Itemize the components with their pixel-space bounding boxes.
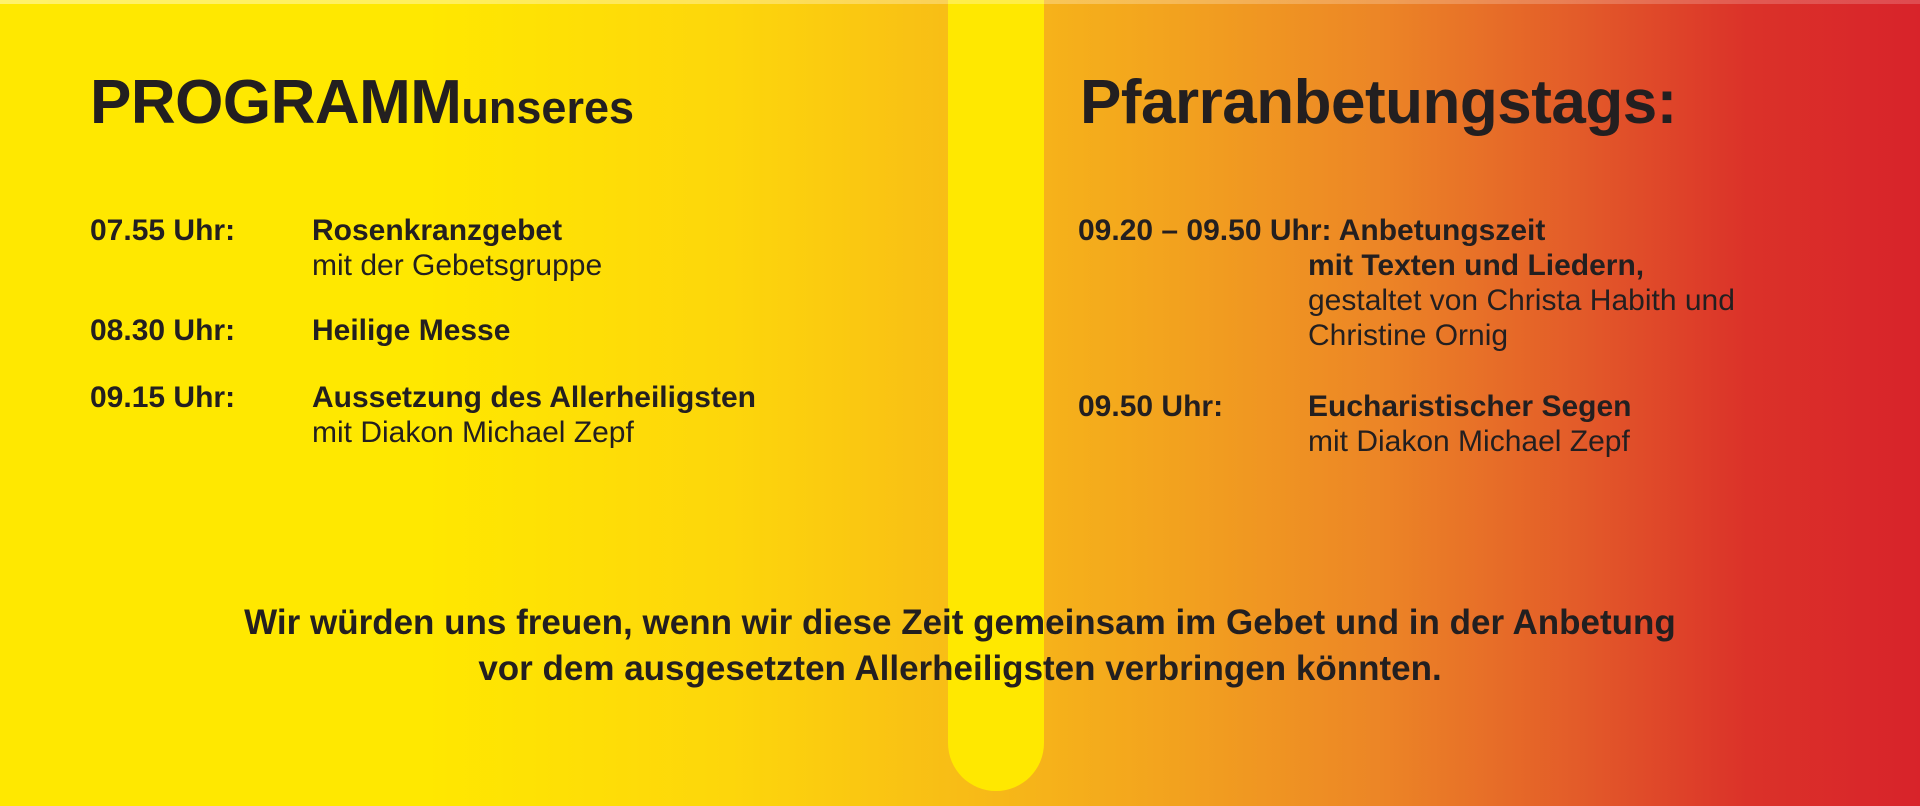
closing-message-line-1: Wir würden uns freuen, wenn wir diese Ze… (80, 600, 1840, 646)
entry-title: Rosenkranzgebet (312, 213, 948, 248)
schedule-entry: 07.55 Uhr: Rosenkranzgebet mit der Gebet… (0, 213, 948, 283)
entry-spacer (0, 348, 948, 380)
poster-canvas: PROGRAMMunseres 07.55 Uhr: Rosenkranzgeb… (0, 0, 1920, 806)
entry-note: mit Diakon Michael Zepf (1308, 424, 1920, 459)
page-title-sub: unseres (461, 82, 634, 133)
entry-note: mit der Gebetsgruppe (312, 248, 948, 283)
entry-spacer (0, 283, 948, 313)
closing-message: Wir würden uns freuen, wenn wir diese Ze… (0, 600, 1920, 691)
schedule-right: 09.20 – 09.50 Uhr: Anbetungszeit mit Tex… (1044, 213, 1920, 460)
schedule-entry: 09.50 Uhr: Eucharistischer Segen mit Dia… (1044, 389, 1920, 459)
entry-spacer (1044, 353, 1920, 389)
entry-title: Eucharistischer Segen (1308, 389, 1920, 424)
page-title-right: Pfarranbetungstags: (1080, 72, 1677, 134)
entry-title: Heilige Messe (312, 313, 948, 348)
schedule-entry: 09.15 Uhr: Aussetzung des Allerheiligste… (0, 380, 948, 450)
schedule-entry-anbetungszeit: 09.20 – 09.50 Uhr: Anbetungszeit mit Tex… (1044, 213, 1920, 353)
entry-subtitle: mit Texten und Liedern, (1308, 248, 1920, 283)
closing-message-line-2: vor dem ausgesetzten Allerheiligsten ver… (80, 646, 1840, 692)
entry-body: Aussetzung des Allerheiligsten mit Diako… (312, 380, 948, 450)
entry-time: 09.15 Uhr: (90, 380, 312, 415)
entry-time: 09.50 Uhr: (1078, 389, 1308, 424)
page-title-main: PROGRAMM (90, 68, 461, 137)
entry-body: Heilige Messe (312, 313, 948, 348)
entry-note-line-1: gestaltet von Christa Habith und (1308, 283, 1920, 318)
entry-note: mit Diakon Michael Zepf (312, 415, 948, 450)
entry-time-and-title: 09.20 – 09.50 Uhr: Anbetungszeit (1078, 213, 1920, 248)
entry-body: Eucharistischer Segen mit Diakon Michael… (1308, 389, 1920, 459)
entry-note-line-2: Christine Ornig (1308, 318, 1920, 353)
entry-body: mit Texten und Liedern, gestaltet von Ch… (1078, 248, 1920, 353)
entry-body: Rosenkranzgebet mit der Gebetsgruppe (312, 213, 948, 283)
entry-time: 08.30 Uhr: (90, 313, 312, 348)
schedule-entry: 08.30 Uhr: Heilige Messe (0, 313, 948, 348)
schedule-left: 07.55 Uhr: Rosenkranzgebet mit der Gebet… (0, 213, 948, 450)
top-edge-sheen (0, 0, 1920, 4)
entry-title: Aussetzung des Allerheiligsten (312, 380, 948, 415)
page-title-left: PROGRAMMunseres (90, 72, 634, 134)
entry-time: 07.55 Uhr: (90, 213, 312, 248)
